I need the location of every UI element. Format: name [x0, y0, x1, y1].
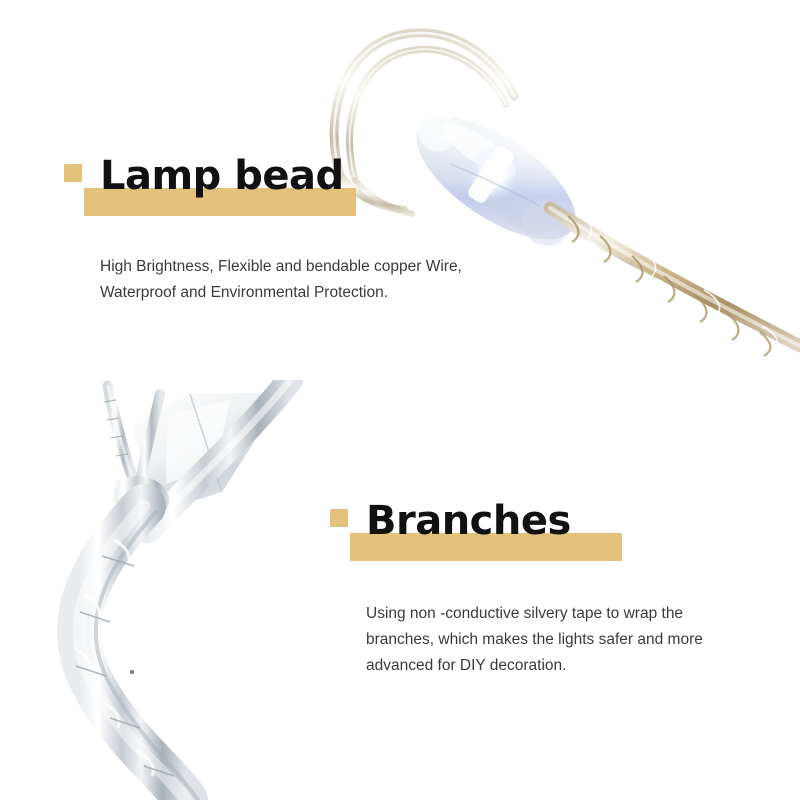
- heading-row-lamp-bead: Lamp bead: [64, 150, 464, 222]
- silver-taped-branch-photo: [40, 380, 370, 800]
- section-description-branches: Using non -conductive silvery tape to wr…: [330, 601, 730, 679]
- heading-row-branches: Branches: [330, 495, 730, 567]
- accent-square-icon: [64, 164, 82, 182]
- section-title-lamp-bead: Lamp bead: [100, 150, 344, 202]
- accent-square-icon: [330, 509, 348, 527]
- section-description-lamp-bead: High Brightness, Flexible and bendable c…: [64, 254, 464, 306]
- section-title-branches: Branches: [366, 495, 571, 547]
- feature-block-branches: Branches Using non -conductive silvery t…: [330, 495, 730, 679]
- feature-block-lamp-bead: Lamp bead High Brightness, Flexible and …: [64, 150, 464, 306]
- infographic-page: Lamp bead High Brightness, Flexible and …: [0, 0, 800, 800]
